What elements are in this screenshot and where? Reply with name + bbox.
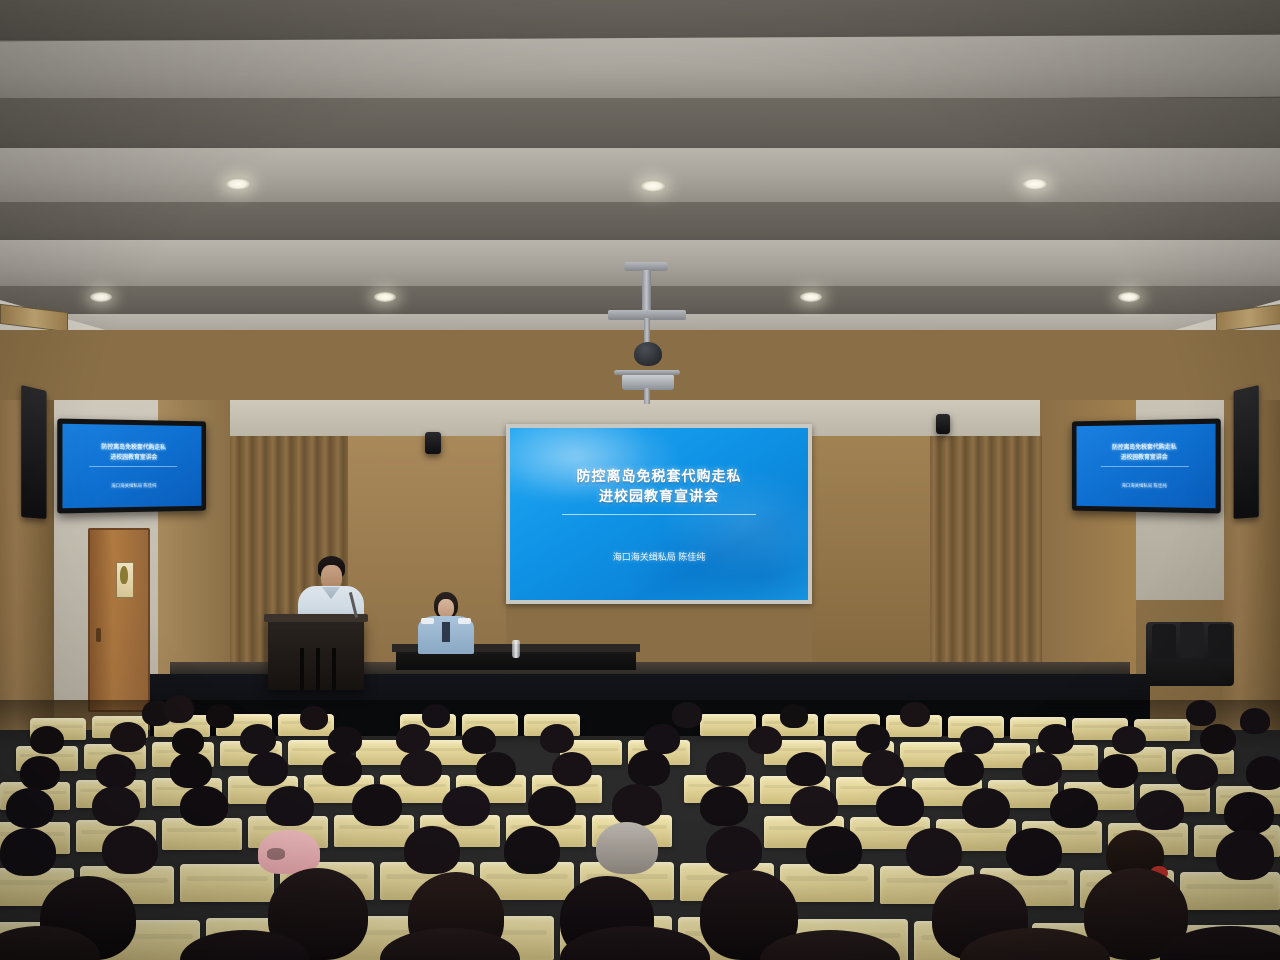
attendee [476, 752, 516, 786]
audience-area [0, 690, 1280, 960]
slide-subtitle: 海口海关缉私局 陈佳纯 [510, 550, 808, 563]
attendee [706, 826, 762, 874]
attendee [352, 784, 402, 826]
monitor-right-subtitle: 海口海关缉私局 陈佳纯 [1077, 483, 1216, 490]
downlight-icon [800, 292, 822, 302]
attendee [856, 724, 890, 753]
attendee [1038, 724, 1074, 754]
monitor-left-subtitle: 海口海关缉私局 陈佳纯 [62, 483, 201, 490]
monitor-left: 防控离岛免税套代购走私 进校园教育宣讲会 海口海关缉私局 陈佳纯 [57, 418, 206, 513]
downlight-icon [1022, 178, 1048, 190]
slide-title-line1: 防控离岛免税套代购走私 [510, 466, 808, 486]
wall-loudspeaker-right [1234, 385, 1259, 519]
wall-panel-right-of-screen [812, 436, 930, 668]
attendee [786, 752, 826, 786]
attendee [900, 702, 930, 727]
attendee [206, 704, 234, 728]
monitor-left-divider [89, 466, 177, 467]
attendee [442, 786, 490, 826]
podium-slat [300, 648, 304, 690]
monitor-right-screen: 防控离岛免税套代购走私 进校园教育宣讲会 海口海关缉私局 陈佳纯 [1077, 424, 1216, 508]
ceiling-projector-mount [600, 262, 692, 412]
attendee [396, 724, 430, 753]
attendee [266, 786, 314, 826]
attendee [404, 826, 460, 874]
slide-divider [562, 514, 756, 515]
auditorium-photo: 防控离岛免税套代购走私 进校园教育宣讲会 海口海关缉私局 陈佳纯 防控离岛免税套… [0, 0, 1280, 960]
attendee [862, 750, 904, 786]
wall-speaker-small-left [425, 432, 441, 454]
attendee [806, 826, 862, 874]
attendee [422, 704, 450, 728]
officer-epaulette-right [458, 618, 471, 624]
attendee [1136, 790, 1184, 830]
attendee [876, 786, 924, 826]
podium-slat [316, 648, 320, 690]
attendee [706, 752, 746, 786]
attendee [960, 726, 994, 754]
attendee [1176, 754, 1218, 790]
attendee [110, 722, 146, 752]
attendee [170, 752, 212, 788]
attendee [1224, 792, 1274, 834]
attendee [628, 750, 670, 786]
attendee [1022, 752, 1062, 786]
officer-tie [442, 622, 450, 642]
attendee [1098, 754, 1138, 788]
attendee [1006, 828, 1062, 876]
slide-title-line2: 进校园教育宣讲会 [510, 486, 808, 506]
attendee [180, 786, 228, 826]
attendee [6, 788, 54, 828]
attendee [790, 786, 838, 826]
attendee [1050, 788, 1098, 828]
attendee [400, 750, 442, 786]
officer-epaulette-left [421, 618, 434, 624]
attendee [780, 704, 808, 728]
door-handle-icon[interactable] [96, 628, 101, 642]
attendee [96, 754, 136, 788]
attendee [962, 788, 1010, 828]
spare-chair-back [1208, 624, 1232, 658]
attendee [528, 786, 576, 826]
attendee [540, 724, 574, 753]
attendee [1216, 830, 1274, 880]
downlight-icon [640, 180, 666, 192]
attendee [164, 695, 194, 723]
attendee [612, 784, 662, 826]
attendee [1240, 708, 1270, 734]
attendee [1246, 756, 1280, 790]
monitor-left-title-line1: 防控离岛免税套代购走私 [62, 441, 201, 451]
attendee [172, 728, 204, 755]
seat[interactable] [180, 864, 274, 902]
attendee [906, 828, 962, 876]
attendee [102, 826, 158, 874]
downlight-icon [374, 292, 396, 302]
monitor-left-screen: 防控离岛免税套代购走私 进校园教育宣讲会 海口海关缉私局 陈佳纯 [62, 424, 201, 508]
attendee [322, 752, 362, 786]
attendee [300, 706, 328, 730]
attendee [672, 702, 702, 728]
attendee [944, 752, 984, 786]
attendee [240, 724, 276, 754]
downlight-icon [1118, 292, 1140, 302]
attendee [1200, 724, 1236, 754]
attendee [748, 726, 782, 754]
attendee [1186, 700, 1216, 726]
attendee [328, 726, 362, 754]
seated-officer [416, 592, 476, 654]
spare-chair-back [1152, 624, 1176, 658]
attendee [92, 786, 140, 826]
podium-top-surface [264, 614, 368, 622]
monitor-right-divider [1101, 466, 1189, 467]
attendee [504, 826, 560, 874]
downlight-icon [225, 178, 251, 190]
monitor-left-title-line2: 进校园教育宣讲会 [62, 452, 201, 462]
attendee [0, 828, 56, 876]
attendee [700, 786, 748, 826]
seat[interactable] [700, 714, 756, 736]
attendee [20, 756, 60, 790]
attendee [30, 726, 64, 754]
attendee [462, 726, 496, 754]
monitor-right-title-line1: 防控离岛免税套代购走私 [1077, 441, 1216, 451]
wall-loudspeaker-left [21, 385, 46, 519]
attendee [1112, 726, 1146, 754]
attendee-gray-hair [596, 822, 658, 874]
wall-notice-sign-glyph [120, 566, 128, 584]
podium-slat [332, 648, 336, 690]
wall-speaker-small-right [936, 414, 950, 434]
monitor-right-title-line2: 进校园教育宣讲会 [1077, 452, 1216, 462]
attendee [248, 752, 288, 786]
attendee [552, 752, 592, 786]
wall-slats-right [930, 436, 1042, 668]
downlight-icon [90, 292, 112, 302]
water-bottle [512, 640, 520, 658]
side-door[interactable] [88, 528, 150, 712]
monitor-right: 防控离岛免税套代购走私 进校园教育宣讲会 海口海关缉私局 陈佳纯 [1072, 418, 1221, 513]
projection-screen: 防控离岛免税套代购走私 进校园教育宣讲会 海口海关缉私局 陈佳纯 [510, 428, 808, 600]
spare-chair-back [1180, 622, 1204, 658]
dome-camera-icon [634, 342, 662, 366]
